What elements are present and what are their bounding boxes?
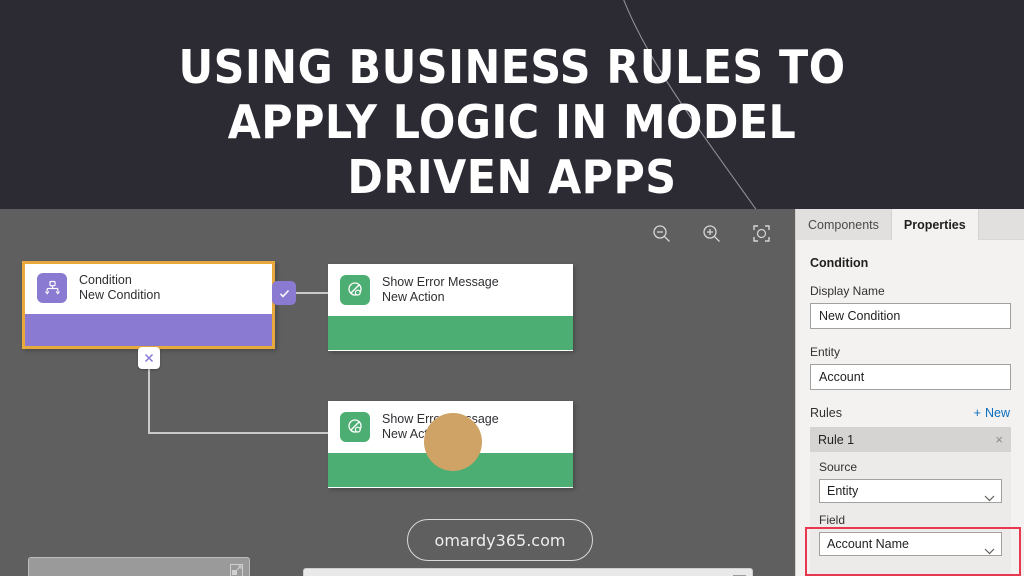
rule-card-body: Source Entity Field Account Name (810, 452, 1011, 574)
node-condition[interactable]: Condition New Condition (22, 261, 275, 349)
rule-card: Rule 1 × Source Entity Field Account Nam… (810, 427, 1011, 574)
field-label: Field (819, 513, 1002, 527)
source-dropdown[interactable]: Entity (819, 479, 1002, 503)
panel-tabs: Components Properties (796, 209, 1024, 240)
branch-true-check-icon[interactable] (272, 281, 296, 305)
add-new-rule-label: New (985, 406, 1010, 420)
bottom-panel-right[interactable] (303, 568, 753, 576)
field-dropdown[interactable]: Account Name (819, 532, 1002, 556)
source-label: Source (819, 460, 1002, 474)
rule-card-title: Rule 1 (818, 433, 854, 447)
display-name-label: Display Name (810, 284, 1010, 298)
add-new-rule-button[interactable]: + New (974, 406, 1010, 420)
tab-properties[interactable]: Properties (892, 209, 979, 240)
source-dropdown-value: Entity (827, 484, 858, 498)
node-action-1-subtitle: New Action (382, 290, 499, 305)
flow-canvas[interactable]: Condition New Condition (0, 209, 795, 576)
bottom-panel-left[interactable] (28, 557, 250, 576)
node-condition-subtitle: New Condition (79, 288, 160, 303)
properties-panel: Components Properties Condition Display … (795, 209, 1024, 576)
cursor-highlight (424, 413, 482, 471)
tab-components[interactable]: Components (796, 209, 892, 240)
fit-to-screen-icon[interactable] (749, 221, 773, 245)
show-error-message-icon (340, 275, 370, 305)
connector-false-vertical (148, 367, 150, 433)
branch-false-cross-icon[interactable] (138, 347, 160, 369)
section-title: Condition (810, 256, 1010, 270)
tab-filler (979, 209, 1024, 239)
close-icon[interactable]: × (995, 432, 1003, 447)
node-action-1[interactable]: Show Error Message New Action (328, 264, 573, 351)
canvas-toolbar (649, 221, 773, 245)
node-action-1-footer (328, 316, 573, 350)
node-condition-header: Condition New Condition (25, 264, 272, 314)
display-name-input[interactable]: New Condition (810, 303, 1011, 329)
screen: Using Business Rules to Apply Logic in M… (0, 0, 1024, 576)
rules-label: Rules (810, 406, 842, 420)
zoom-in-icon[interactable] (699, 221, 723, 245)
rule-card-header: Rule 1 × (810, 427, 1011, 452)
node-action-1-title: Show Error Message (382, 275, 499, 290)
connector-true (294, 292, 330, 294)
expand-icon[interactable] (230, 564, 243, 576)
connector-false-horizontal (148, 432, 330, 434)
page-title: Using Business Rules to Apply Logic in M… (36, 40, 988, 205)
node-condition-footer (25, 314, 272, 346)
zoom-out-icon[interactable] (649, 221, 673, 245)
watermark: omardy365.com (407, 519, 593, 561)
field-dropdown-value: Account Name (827, 537, 909, 551)
condition-branch-icon (37, 273, 67, 303)
node-action-1-header: Show Error Message New Action (328, 264, 573, 316)
node-condition-title: Condition (79, 273, 160, 288)
rules-header: Rules + New (810, 406, 1010, 420)
title-banner: Using Business Rules to Apply Logic in M… (0, 0, 1024, 209)
entity-label: Entity (810, 345, 1010, 359)
show-error-message-icon (340, 412, 370, 442)
node-condition-text: Condition New Condition (79, 273, 160, 303)
entity-input[interactable]: Account (810, 364, 1011, 390)
node-action-1-text: Show Error Message New Action (382, 275, 499, 305)
chevron-down-icon (984, 540, 995, 562)
chevron-down-icon (984, 487, 995, 509)
plus-icon: + (974, 406, 981, 420)
panel-body: Condition Display Name New Condition Ent… (796, 240, 1024, 574)
